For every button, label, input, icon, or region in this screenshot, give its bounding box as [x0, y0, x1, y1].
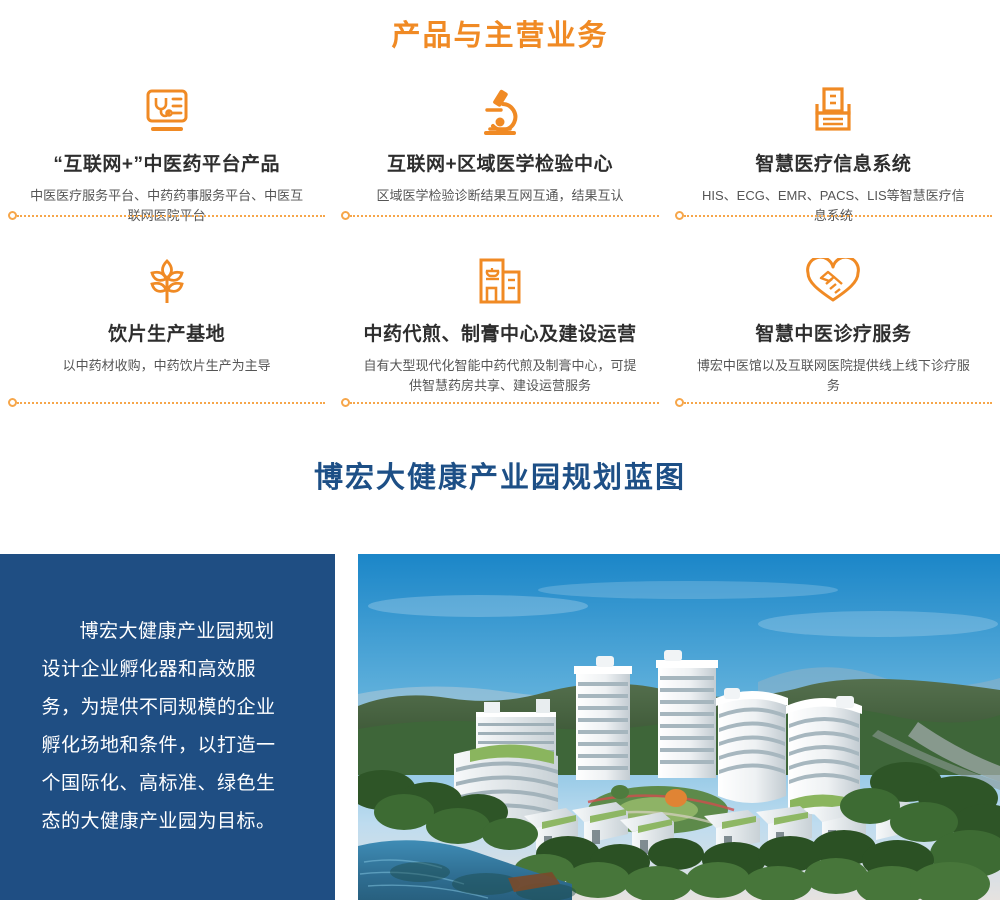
- card-divider: [675, 398, 992, 408]
- divider-line: [684, 215, 992, 217]
- products-section-title: 产品与主营业务: [0, 0, 1000, 51]
- product-card[interactable]: 互联网+区域医学检验中心 区域医学检验诊断结果互网互通，结果互认: [333, 73, 666, 221]
- printer-icon: [683, 81, 984, 143]
- divider-dot: [675, 211, 684, 220]
- product-card-desc: 自有大型现代化智能中药代煎及制膏中心，可提供智慧药房共享、建设运营服务: [349, 356, 650, 396]
- product-card-title: 中药代煎、制膏中心及建设运营: [349, 323, 650, 347]
- monitor-stethoscope-icon: [16, 81, 317, 143]
- divider-line: [684, 402, 992, 404]
- divider-line: [350, 215, 658, 217]
- wheat-icon: [16, 251, 317, 313]
- card-divider: [8, 398, 325, 408]
- divider-dot: [341, 211, 350, 220]
- card-divider: [341, 211, 658, 221]
- blueprint-text-panel: 博宏大健康产业园规划设计企业孵化器和高效服务，为提供不同规模的企业孵化场地和条件…: [0, 554, 335, 900]
- page-root: 产品与主营业务 “互联网+”中医药平台产品: [0, 0, 1000, 900]
- divider-dot: [675, 398, 684, 407]
- product-card-row-1: “互联网+”中医药平台产品 中医医疗服务平台、中药药事服务平台、中医互联网医院平…: [0, 73, 1000, 221]
- card-divider: [675, 211, 992, 221]
- products-section: 产品与主营业务 “互联网+”中医药平台产品: [0, 0, 1000, 408]
- divider-line: [17, 402, 325, 404]
- divider-line: [17, 215, 325, 217]
- park-aerial-rendering: [358, 554, 1000, 900]
- building-teapot-icon: [349, 251, 650, 313]
- product-card[interactable]: 智慧中医诊疗服务 博宏中医馆以及互联网医院提供线上线下诊疗服务: [667, 243, 1000, 408]
- handshake-heart-icon: [683, 251, 984, 313]
- product-card-desc: 以中药材收购，中药饮片生产为主导: [16, 356, 317, 376]
- card-divider: [8, 211, 325, 221]
- divider-dot: [8, 398, 17, 407]
- blueprint-panel-text: 博宏大健康产业园规划设计企业孵化器和高效服务，为提供不同规模的企业孵化场地和条件…: [42, 613, 294, 841]
- card-divider: [341, 398, 658, 408]
- product-card[interactable]: 中药代煎、制膏中心及建设运营 自有大型现代化智能中药代煎及制膏中心，可提供智慧药…: [333, 243, 666, 408]
- product-card[interactable]: “互联网+”中医药平台产品 中医医疗服务平台、中药药事服务平台、中医互联网医院平…: [0, 73, 333, 221]
- divider-line: [350, 402, 658, 404]
- divider-dot: [8, 211, 17, 220]
- product-card[interactable]: 智慧医疗信息系统 HIS、ECG、EMR、PACS、LIS等智慧医疗信息系统: [667, 73, 1000, 221]
- product-card-title: 智慧医疗信息系统: [683, 153, 984, 177]
- product-card-desc: 博宏中医馆以及互联网医院提供线上线下诊疗服务: [683, 356, 984, 396]
- divider-dot: [341, 398, 350, 407]
- blueprint-section-title: 博宏大健康产业园规划蓝图: [0, 464, 1000, 493]
- product-card-title: 互联网+区域医学检验中心: [349, 153, 650, 177]
- product-card[interactable]: 饮片生产基地 以中药材收购，中药饮片生产为主导: [0, 243, 333, 408]
- product-card-title: “互联网+”中医药平台产品: [16, 153, 317, 177]
- product-card-row-2: 饮片生产基地 以中药材收购，中药饮片生产为主导: [0, 243, 1000, 408]
- product-card-title: 饮片生产基地: [16, 323, 317, 347]
- microscope-icon: [349, 81, 650, 143]
- product-card-title: 智慧中医诊疗服务: [683, 323, 984, 347]
- blueprint-content: 博宏大健康产业园规划设计企业孵化器和高效服务，为提供不同规模的企业孵化场地和条件…: [0, 554, 1000, 900]
- product-card-desc: 区域医学检验诊断结果互网互通，结果互认: [349, 186, 650, 206]
- blueprint-section: 博宏大健康产业园规划蓝图 博宏大健康产业园规划设计企业孵化器和高效服务，为提供不…: [0, 464, 1000, 493]
